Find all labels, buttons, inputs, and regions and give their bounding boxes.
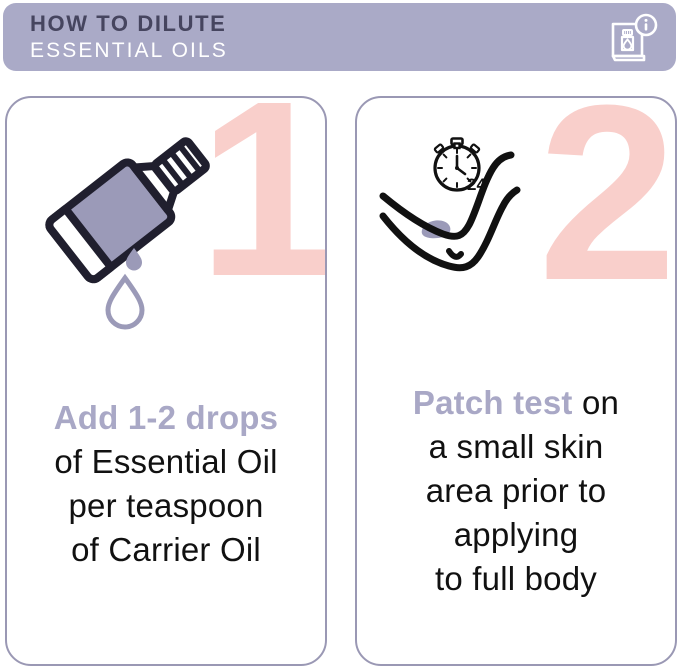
card-1-line-3: per teaspoon — [13, 484, 319, 528]
page-title: HOW TO DILUTE — [30, 11, 228, 37]
card-2-line-1-tail: on — [573, 384, 619, 421]
card-2-line-5: to full body — [363, 557, 669, 601]
card-1-caption: Add 1-2 drops of Essential Oil per teasp… — [7, 396, 325, 572]
page-subtitle: ESSENTIAL OILS — [30, 37, 228, 64]
elbow-patch-test-stopwatch-icon: 24 — [365, 124, 585, 289]
card-1-highlight: Add 1-2 drops — [54, 399, 278, 436]
card-2-line-4: applying — [363, 513, 669, 557]
dropper-bottle-with-drops-icon — [21, 120, 241, 345]
card-2-highlight: Patch test — [413, 384, 573, 421]
card-2-line-2: a small skin — [363, 425, 669, 469]
header-title-group: HOW TO DILUTE ESSENTIAL OILS — [30, 11, 228, 64]
card-2-line-3: area prior to — [363, 469, 669, 513]
header-bar: HOW TO DILUTE ESSENTIAL OILS — [3, 3, 676, 71]
stopwatch-hours-label: 24 — [467, 175, 486, 194]
card-2-caption: Patch test on a small skin area prior to… — [357, 381, 675, 601]
step-card-2: 2 — [355, 96, 677, 666]
card-1-line-2: of Essential Oil — [13, 440, 319, 484]
card-1-line-4: of Carrier Oil — [13, 528, 319, 572]
step-card-1: 1 Add 1-2 drops of Essential O — [5, 96, 327, 666]
oil-bottle-info-icon — [606, 12, 658, 64]
